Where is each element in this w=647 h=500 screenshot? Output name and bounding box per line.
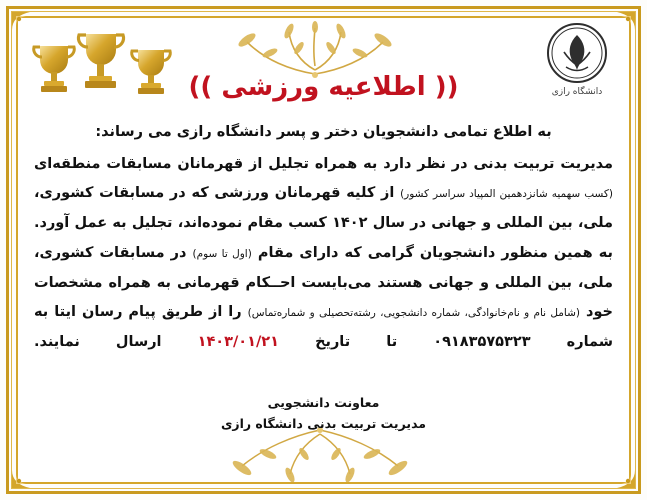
- paren-note-1: (کسب سهمیه شانزدهمین المپیاد سراسر کشور): [400, 188, 613, 200]
- main-paragraph: مدیریت تربیت بدنی در نظر دارد به همراه ت…: [34, 150, 613, 358]
- announcement-body: به اطلاع تمامی دانشجویان دختر و پسر دانش…: [34, 118, 613, 360]
- contact-phone-number: ۰۹۱۸۳۵۷۵۳۲۳: [433, 334, 530, 350]
- corner-ornament-icon: [10, 444, 56, 490]
- signature-block: معاونت دانشجویی مدیریت تربیت بدنی دانشگا…: [0, 392, 647, 435]
- floral-ornament-top-icon: [195, 20, 435, 80]
- paren-note-7: (شامل نام و نام‌خانوادگی، شماره دانشجویی…: [248, 307, 580, 319]
- body-text-10: تا تاریخ: [279, 334, 433, 350]
- body-text-12: ارسال نمایند.: [34, 334, 198, 350]
- body-text-5: احــکام قهرمانی: [177, 275, 295, 291]
- signature-line-1: معاونت دانشجویی: [221, 392, 426, 413]
- signature-line-2: مدیریت تربیت بدنی دانشگاه رازی: [221, 413, 426, 434]
- floral-ornament-bottom-icon: [180, 426, 460, 482]
- page-title: (( اطلاعیه ورزشی )): [189, 72, 459, 102]
- lead-paragraph: به اطلاع تمامی دانشجویان دختر و پسر دانش…: [34, 118, 613, 148]
- deadline-date: ۱۴۰۳/۰۱/۲۱: [198, 334, 279, 350]
- poster-document: دانشگاه رازی (( اطلاعیه ورزشی )) به اطلا…: [0, 0, 647, 500]
- body-text-0: مدیریت تربیت بدنی در نظر دارد به همراه ت…: [34, 156, 613, 172]
- title-container: (( اطلاعیه ورزشی )): [0, 72, 647, 102]
- paren-note-3: (اول تا سوم): [192, 248, 251, 260]
- corner-ornament-icon: [591, 444, 637, 490]
